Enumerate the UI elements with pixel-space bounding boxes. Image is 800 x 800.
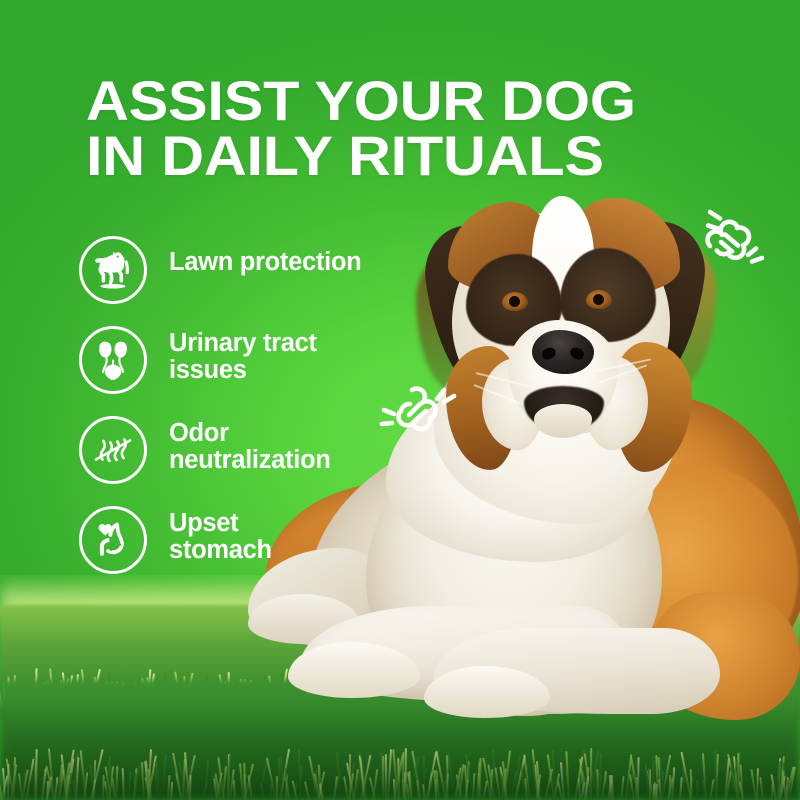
dog-head <box>436 196 686 462</box>
feature-label: Odor neutralization <box>169 416 331 474</box>
feature-item-lawn-protection[interactable]: Lawn protection <box>79 236 399 326</box>
feature-item-urinary-tract[interactable]: Urinary tract issues <box>79 326 399 416</box>
feature-label: Lawn protection <box>169 236 361 276</box>
feature-item-odor-neutralization[interactable]: Odor neutralization <box>79 416 399 506</box>
dog-pupil-left <box>509 296 520 307</box>
promo-poster: ASSIST YOUR DOG IN DAILY RITUALS Lawn pr… <box>0 0 800 800</box>
bee-doodle-middle <box>368 368 464 445</box>
feature-item-upset-stomach[interactable]: Upset stomach <box>79 506 399 596</box>
feature-label: Urinary tract issues <box>169 326 317 384</box>
feature-list: Lawn protection Urinary tract issues <box>79 236 399 596</box>
page-title: ASSIST YOUR DOG IN DAILY RITUALS <box>86 74 636 184</box>
feature-label: Upset stomach <box>169 506 272 564</box>
dog-urinating-icon <box>79 236 147 304</box>
urinary-tract-kidneys-icon <box>79 326 147 394</box>
bee-doodle-top-right <box>686 192 776 275</box>
stomach-heart-icon <box>79 506 147 574</box>
dog-pupil-right <box>593 294 604 305</box>
odor-waves-slash-icon <box>79 416 147 484</box>
